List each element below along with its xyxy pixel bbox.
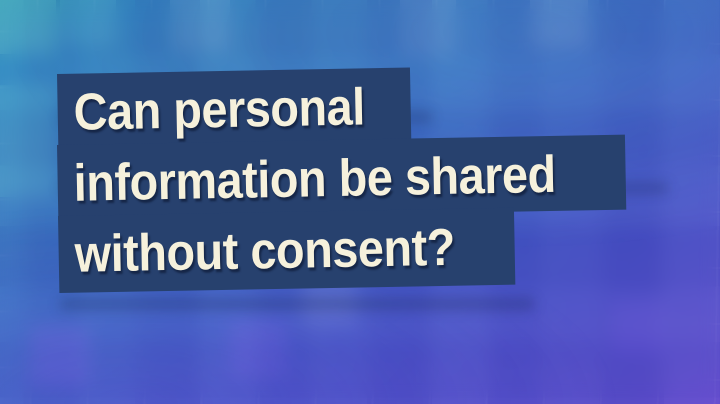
- background-blur-layer: [0, 0, 720, 404]
- title-card: Can personal information be shared witho…: [0, 0, 720, 404]
